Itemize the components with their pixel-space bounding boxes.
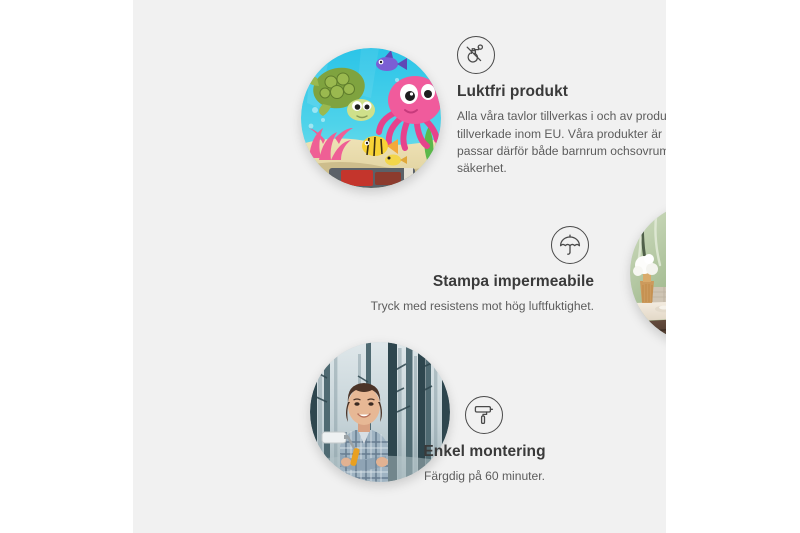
umbrella-icon	[551, 226, 589, 264]
photo-bathroom-inner	[630, 203, 666, 343]
photo-bathroom-tropical-wallpaper	[630, 203, 666, 343]
feature-description: Alla våra tavlor tillverkas i och av pro…	[457, 108, 666, 177]
paint-roller-icon	[465, 396, 503, 434]
photo-underwater-kids-mural	[301, 48, 441, 188]
feature-description: Färgdig på 60 minuter.	[329, 468, 640, 485]
bathroom-illustration	[630, 203, 666, 343]
feature-title: Stampa impermeabile	[221, 272, 594, 291]
no-fragrance-spray-bottle-icon	[457, 36, 495, 74]
underwater-illustration	[301, 48, 441, 188]
feature-description: Tryck med resistens mot hög luftfuktighe…	[221, 298, 594, 315]
feature-title: Enkel montering	[329, 442, 640, 461]
photo-underwater-inner	[301, 48, 441, 188]
content-panel: Luktfri produkt Alla våra tavlor tillver…	[133, 0, 666, 533]
feature-title: Luktfri produkt	[457, 82, 666, 101]
product-feature-infographic: Luktfri produkt Alla våra tavlor tillver…	[0, 0, 800, 533]
